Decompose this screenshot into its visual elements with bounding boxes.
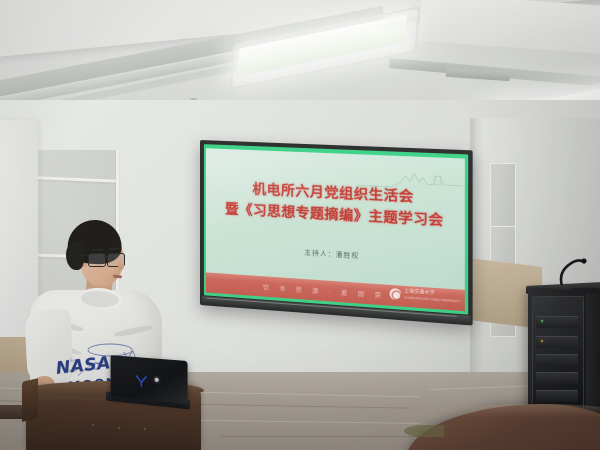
presentation-slide: 机电所六月党组织生活会 暨《习思想专题摘编》主题学习会 主持人：潘胜权 饮 水 … [206,148,465,311]
slide-presenter-line: 主持人：潘胜权 [206,240,465,266]
university-logo-text: 上海交通大学 SHANGHAI JIAO TONG UNIVERSITY [404,289,460,304]
university-seal-icon [390,288,402,300]
projection-screen[interactable]: 机电所六月党组织生活会 暨《习思想专题摘编》主题学习会 主持人：潘胜权 饮 水 … [200,140,473,326]
conference-table-trim [404,425,444,437]
laptop-brand-logo-icon [135,374,148,389]
av-rack-unit [536,336,578,348]
av-rack-unit [536,372,578,384]
av-rack-unit [536,354,578,366]
lectern-screw [92,424,94,426]
gooseneck-microphone[interactable] [540,252,590,294]
microphone-base [548,285,572,292]
right-wall-niche-1 [490,163,516,227]
av-rack-status-led [541,340,543,342]
university-logo: 上海交通大学 SHANGHAI JIAO TONG UNIVERSITY [390,288,460,304]
ceiling-plane-right [419,0,600,55]
meeting-room-photo: 机电所六月党组织生活会 暨《习思想专题摘编》主题学习会 主持人：潘胜权 饮 水 … [0,0,600,450]
av-equipment-rack[interactable] [528,288,600,420]
laptop-light-reflection [155,378,159,382]
av-rack-unit [536,316,578,328]
lectern-screw [144,428,146,430]
av-rack-status-led [541,320,543,322]
lectern-screw [118,427,120,429]
floor-plank-line [220,436,420,437]
slide-footer-motto: 饮 水 思 源 · 爱 国 荣 校 [263,282,403,301]
lectern-side-wing [22,378,38,421]
av-rack-unit [536,390,578,402]
lectern-front-panel [34,400,192,450]
av-rack-side-panel [586,294,600,416]
laptop[interactable] [111,355,188,404]
glasses-bridge [104,256,108,257]
nose [118,262,124,270]
